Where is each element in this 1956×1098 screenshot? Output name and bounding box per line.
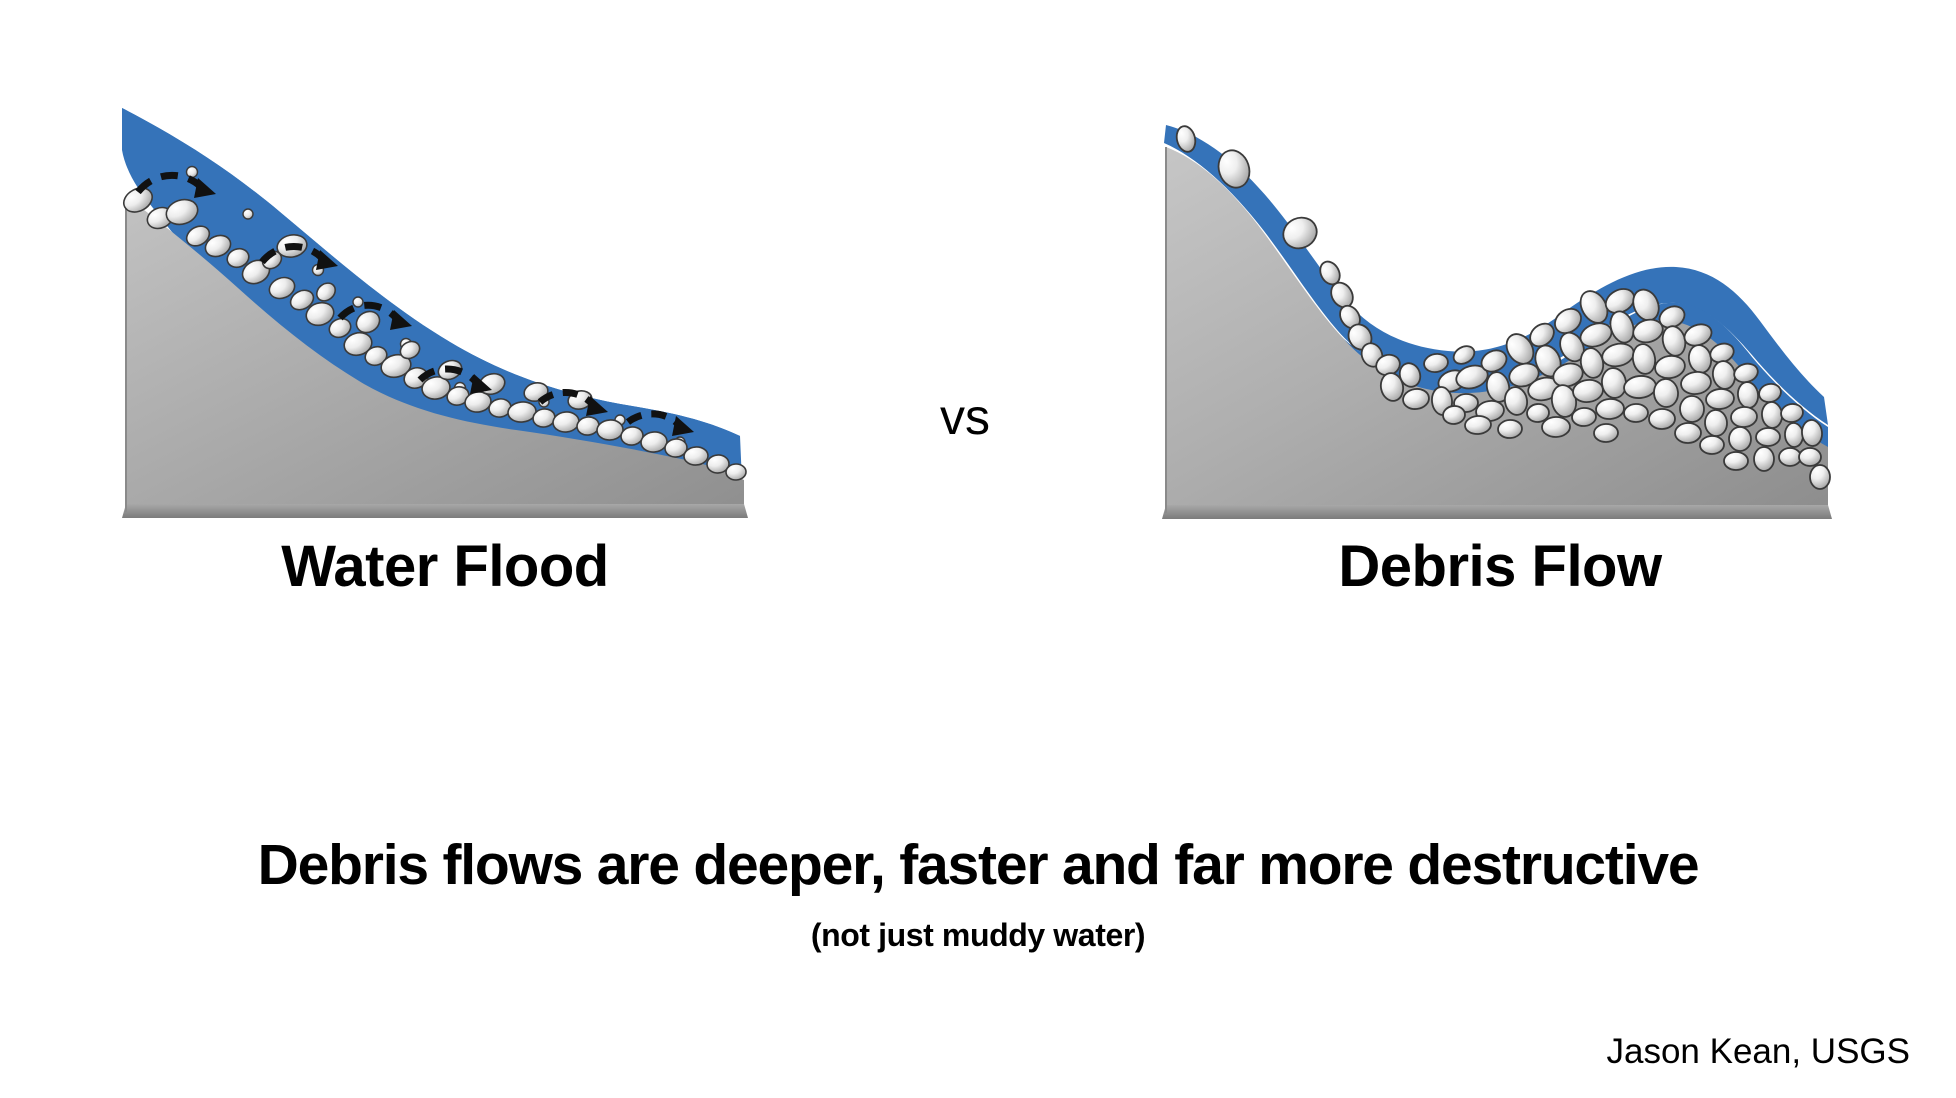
debris-flow-caption: Debris Flow [1160, 533, 1840, 600]
ground-base-lip [1162, 505, 1832, 519]
attribution-text: Jason Kean, USGS [1607, 1032, 1911, 1072]
subheadline-text: (not just muddy water) [0, 917, 1956, 954]
slide-canvas: Water Flood vs [0, 0, 1956, 1098]
ground-base-lip [122, 504, 748, 518]
water-flood-diagram [120, 100, 820, 530]
debris-flow-svg [1160, 125, 1840, 530]
water-flood-caption: Water Flood [120, 533, 770, 600]
debris-flow-diagram [1160, 125, 1840, 530]
headline-text: Debris flows are deeper, faster and far … [0, 832, 1956, 898]
versus-label: vs [940, 388, 990, 446]
water-flood-svg [120, 100, 820, 530]
